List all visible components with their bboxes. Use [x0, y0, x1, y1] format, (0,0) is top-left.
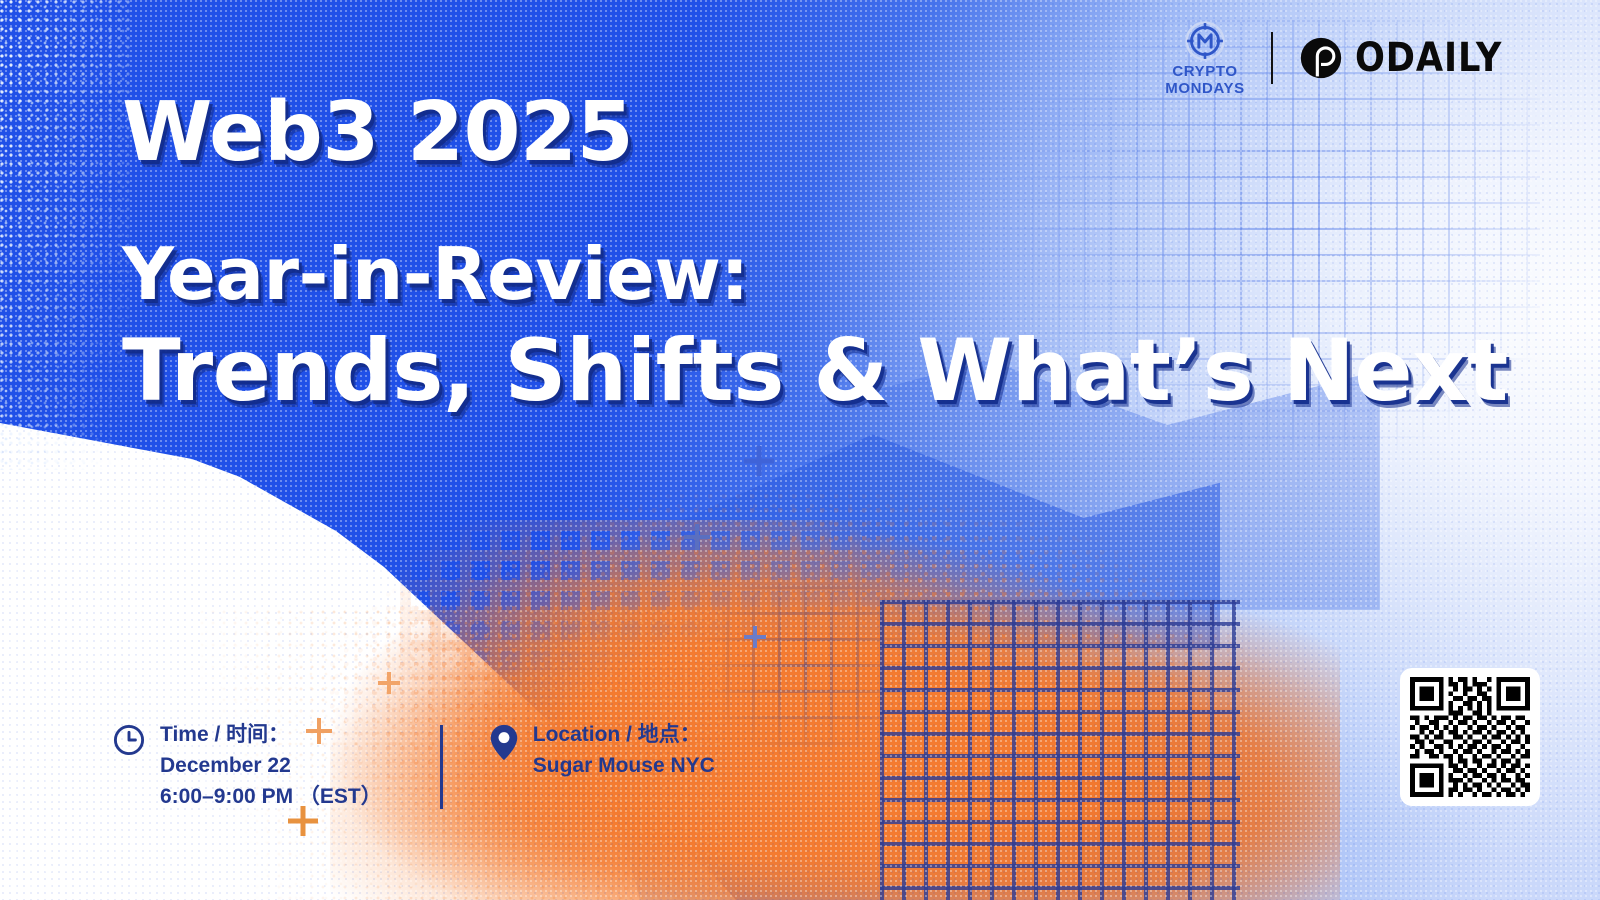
headline-line-1: Web3 2025: [122, 92, 1508, 174]
time-hours: 6:00–9:00 PM （EST）: [160, 781, 382, 812]
time-label: Time / 时间：: [160, 719, 382, 750]
location-block: Location / 地点： Sugar Mouse NYC: [489, 719, 715, 781]
logo-bar: CRYPTO MONDAYS ODAILY: [1165, 20, 1522, 96]
clock-icon: [112, 723, 146, 762]
headline: Web3 2025 Year-in-Review: Trends, Shifts…: [122, 92, 1508, 414]
qr-code[interactable]: [1400, 668, 1540, 806]
crypto-mondays-label-line-2: MONDAYS: [1165, 81, 1245, 96]
time-date: December 22: [160, 750, 382, 781]
time-block: Time / 时间： December 22 6:00–9:00 PM （EST…: [112, 719, 382, 812]
headline-line-2: Year-in-Review:: [122, 238, 1508, 310]
odaily-circle-icon: [1299, 36, 1343, 80]
event-poster: Web3 2025 Year-in-Review: Trends, Shifts…: [0, 0, 1600, 900]
crypto-mondays-circle-m-icon: [1184, 20, 1226, 62]
cross-mark-icon: [744, 626, 766, 648]
location-text: Location / 地点： Sugar Mouse NYC: [533, 719, 715, 781]
logo-divider: [1271, 32, 1273, 84]
time-text: Time / 时间： December 22 6:00–9:00 PM （EST…: [160, 719, 382, 812]
location-venue: Sugar Mouse NYC: [533, 750, 715, 781]
crypto-mondays-logo[interactable]: CRYPTO MONDAYS: [1165, 20, 1245, 96]
location-label: Location / 地点：: [533, 719, 715, 750]
odaily-logo[interactable]: ODAILY: [1299, 35, 1522, 81]
info-divider: [440, 725, 443, 809]
headline-line-3: Trends, Shifts & What’s Next: [122, 328, 1508, 414]
odaily-wordmark: ODAILY: [1355, 35, 1502, 81]
map-pin-icon: [489, 723, 519, 767]
crypto-mondays-label-line-1: CRYPTO: [1172, 64, 1237, 79]
cross-mark-icon: [744, 446, 774, 476]
cross-mark-icon: [684, 524, 710, 550]
cross-mark-icon: [378, 672, 400, 694]
event-info-bar: Time / 时间： December 22 6:00–9:00 PM （EST…: [112, 719, 715, 812]
